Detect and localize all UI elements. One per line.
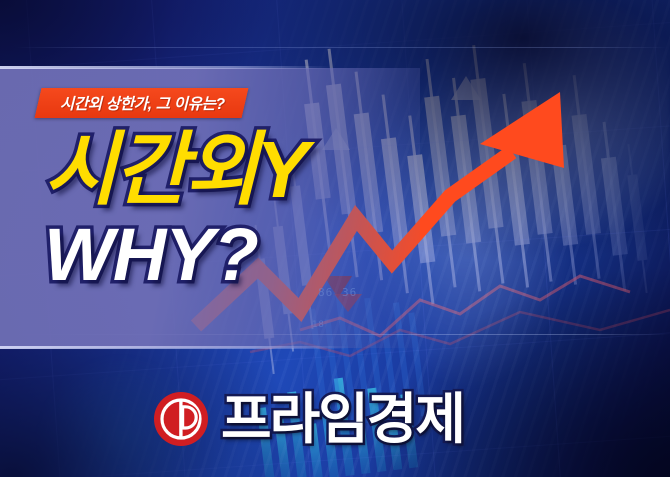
headline-block: 시간외Y WHY? xyxy=(44,130,514,292)
headline-panel-bottom-edge xyxy=(0,346,350,349)
brand-logo-text: 프라임경제 xyxy=(221,392,464,447)
news-thumbnail-card: 86 36 18 시간외 상한가, 그 이유는? 시간외Y WHY? 프라임경제 xyxy=(0,0,670,477)
headline-line-english: WHY? xyxy=(44,218,514,292)
headline-line-korean: 시간외Y xyxy=(44,130,514,210)
headline-panel-top-edge xyxy=(0,66,330,69)
prime-circle-p-mark-icon xyxy=(152,390,210,448)
brand-logo: 프라임경제 xyxy=(152,390,464,448)
kicker-ribbon: 시간외 상한가, 그 이유는? xyxy=(35,88,249,118)
kicker-ribbon-text: 시간외 상한가, 그 이유는? xyxy=(60,92,225,114)
